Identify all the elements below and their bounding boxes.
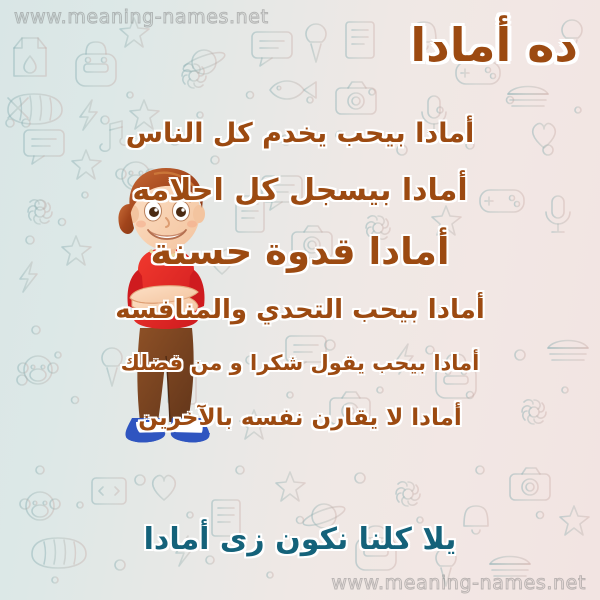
- watermark-top: www.meaning-names.net: [14, 6, 269, 28]
- trait-lines-list: أمادا بيحب يخدم كل الناس أمادا بيسجل كل …: [20, 118, 580, 431]
- trait-line-2: أمادا بيسجل كل احلامه: [20, 173, 580, 208]
- trait-line-6: أمادا لا يقارن نفسه بالآخرين: [20, 405, 580, 431]
- trait-line-1: أمادا بيحب يخدم كل الناس: [20, 118, 580, 149]
- trait-line-5: أمادا بيحب يقول شكرا و من فضلك: [20, 351, 580, 375]
- trait-line-3: أمادا قدوة حسنة: [20, 230, 580, 273]
- trait-line-4: أمادا بيحب التحدي والمنافسه: [20, 295, 580, 325]
- name-meaning-card: www.meaning-names.net ده أمادا: [0, 0, 600, 600]
- page-title: ده أمادا: [410, 18, 578, 72]
- watermark-bottom: www.meaning-names.net: [331, 572, 586, 594]
- footer-tagline: يلا كلنا نكون زى أمادا: [0, 522, 600, 557]
